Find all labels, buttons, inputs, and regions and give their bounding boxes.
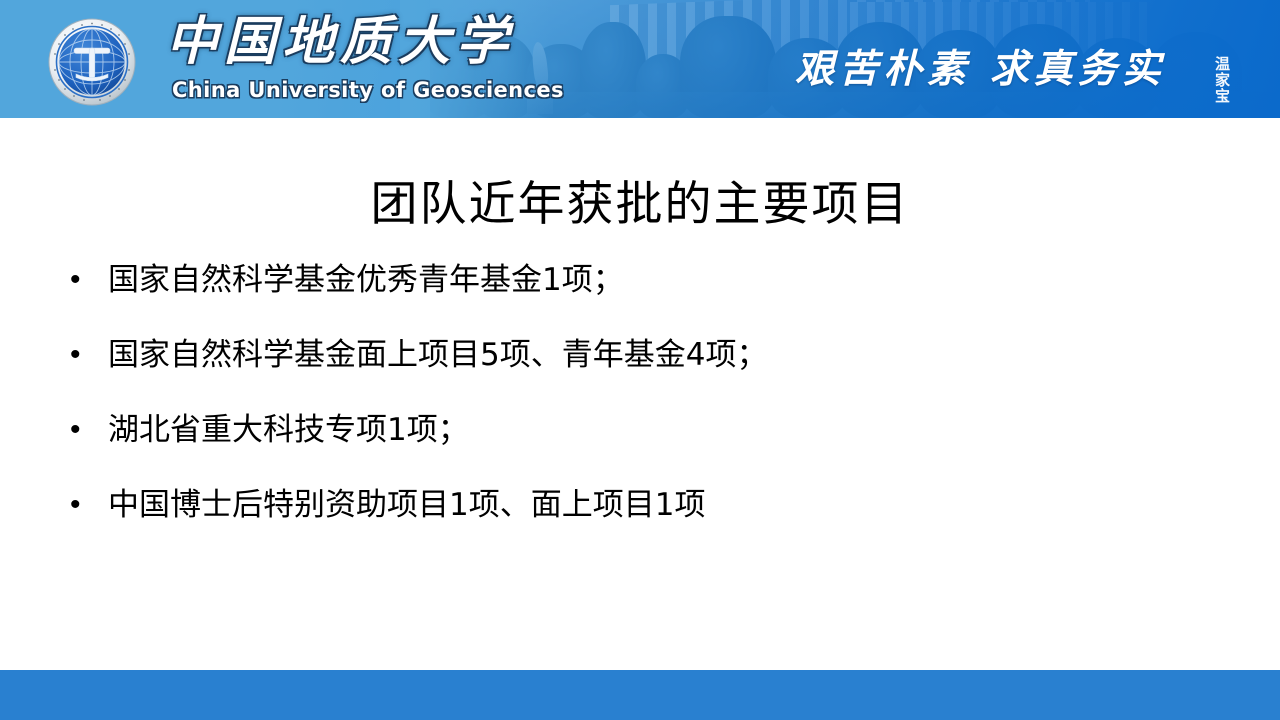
footer-bar [0, 670, 1280, 720]
university-name-en: China University of Geosciences [172, 80, 564, 101]
bullet-marker-icon: • [70, 483, 108, 527]
presentation-slide: 中国地质大学 China University of Geosciences 艰… [0, 0, 1280, 720]
list-item-label: 湖北省重大科技专项1项； [108, 408, 1230, 452]
list-item-label: 中国博士后特别资助项目1项、面上项目1项 [108, 483, 1230, 527]
bullet-marker-icon: • [70, 333, 108, 377]
list-item: • 国家自然科学基金面上项目5项、青年基金4项； [70, 333, 1230, 408]
bullet-list: • 国家自然科学基金优秀青年基金1项； • 国家自然科学基金面上项目5项、青年基… [70, 258, 1230, 558]
list-item-label: 国家自然科学基金优秀青年基金1项； [108, 258, 1230, 302]
header-banner: 中国地质大学 China University of Geosciences 艰… [0, 0, 1280, 118]
list-item: • 国家自然科学基金优秀青年基金1项； [70, 258, 1230, 333]
page-title: 团队近年获批的主要项目 [0, 178, 1280, 232]
university-motto: 艰苦朴素 求真务实 [795, 50, 1166, 89]
bullet-marker-icon: • [70, 258, 108, 302]
list-item: • 中国博士后特别资助项目1项、面上项目1项 [70, 483, 1230, 558]
motto-signature: 温家宝 [1208, 56, 1230, 104]
list-item: • 湖北省重大科技专项1项； [70, 408, 1230, 483]
list-item-label: 国家自然科学基金面上项目5项、青年基金4项； [108, 333, 1230, 377]
bullet-marker-icon: • [70, 408, 108, 452]
university-name-cn: 中国地质大学 [166, 16, 514, 68]
university-seal-icon [48, 18, 136, 106]
